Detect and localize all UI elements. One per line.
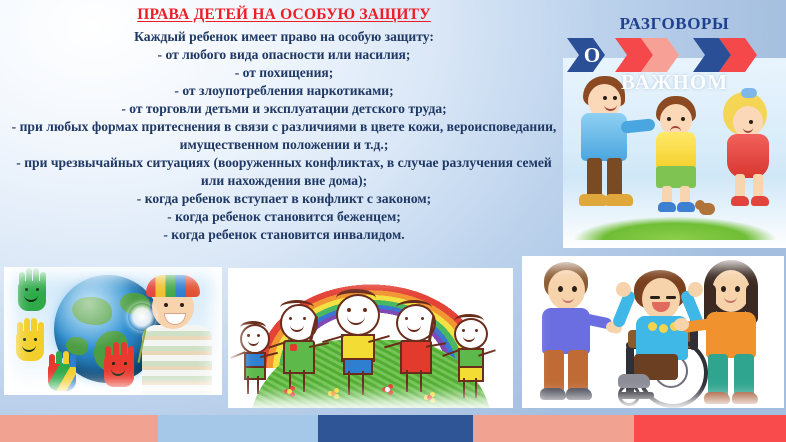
right-item: - от любого вида опасности или насилия; [8,46,560,64]
stripe-segment-lightblue [158,415,318,442]
right-item: - когда ребенок становится инвалидом. [8,226,560,244]
toy-bear [695,200,721,216]
logo-letter-o: О [575,38,609,72]
text-block: ПРАВА ДЕТЕЙ НА ОСОБУЮ ЗАЩИТУ Каждый ребе… [8,6,560,244]
logo-line-1: РАЗГОВОРЫ [563,14,786,34]
boy-colorful-cap [146,275,200,297]
drawn-flower [382,384,394,396]
dandelion-flower [128,303,158,333]
stripe-segment-salmon-left [0,415,158,442]
chevron-group: О [567,38,782,72]
logo-razgovory-o-vazhnom: РАЗГОВОРЫ О ВАЖНОМ [563,12,786,104]
right-item: - от злоупотребления наркотиками; [8,82,560,100]
intro-line: Каждый ребенок имеет право на особую защ… [8,28,560,46]
globe-handprints-image [4,267,222,395]
right-item: - от торговли детьми и эксплуатации детс… [8,100,560,118]
drawn-flower [424,392,436,404]
drawn-flower [328,388,340,400]
handprint-multicolor [48,363,76,391]
right-item: - когда ребенок вступает в конфликт с за… [8,190,560,208]
children-drawing-image [228,268,513,408]
right-item: - от похищения; [8,64,560,82]
boy-shirt [142,325,212,395]
poster-canvas: ПРАВА ДЕТЕЙ НА ОСОБУЮ ЗАЩИТУ Каждый ребе… [0,0,786,442]
right-item: - при чрезвычайных ситуациях (вооруженны… [8,154,560,190]
handprint-yellow [16,331,44,361]
right-item: - при любых формах притеснения в связи с… [8,118,560,154]
stripe-segment-salmon-right [473,415,634,442]
boy-with-dandelion [134,269,220,395]
handprint-red [104,355,134,387]
stripe-segment-navy [318,415,473,442]
handprint-green [18,281,46,311]
top-right-block: РАЗГОВОРЫ О ВАЖНОМ [563,12,786,248]
bottom-color-stripe [0,415,786,442]
drawn-flower [284,386,296,398]
right-item: - когда ребенок становится беженцем; [8,208,560,226]
stripe-segment-red [634,415,786,442]
inclusion-wheelchair-image [522,256,784,408]
page-title: ПРАВА ДЕТЕЙ НА ОСОБУЮ ЗАЩИТУ [8,6,560,24]
logo-line-2: ВАЖНОМ [563,70,786,95]
